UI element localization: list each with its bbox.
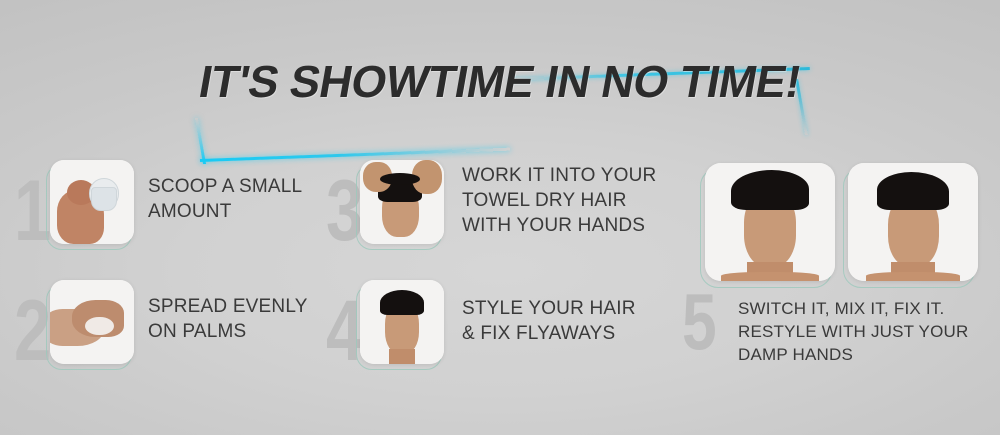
page-title: IT'S SHOWTIME IN NO TIME! xyxy=(0,56,1000,108)
step-5-image-2 xyxy=(848,163,978,281)
man-running-hands-through-hair-photo xyxy=(360,160,444,244)
step-3-text: WORK IT INTO YOUR TOWEL DRY HAIR WITH YO… xyxy=(462,163,677,238)
step-3-image xyxy=(360,160,444,244)
accent-bracket-bottom-left-horizontal xyxy=(200,148,510,162)
man-alternate-style-photo xyxy=(848,163,978,281)
step-1-text: SCOOP A SMALL AMOUNT xyxy=(148,174,338,224)
man-restyled-hair-photo xyxy=(705,163,835,281)
man-styled-hair-photo xyxy=(360,280,444,364)
promo-banner: IT'S SHOWTIME IN NO TIME! 1 SCOOP A SMAL… xyxy=(0,0,1000,435)
title-block: IT'S SHOWTIME IN NO TIME! xyxy=(0,34,1000,144)
step-2-image xyxy=(50,280,134,364)
step-5-image-1 xyxy=(705,163,835,281)
step-2-text: SPREAD EVENLY ON PALMS xyxy=(148,294,348,344)
step-4-image xyxy=(360,280,444,364)
step-4-text: STYLE YOUR HAIR & FIX FLYAWAYS xyxy=(462,296,677,346)
accent-bracket-bottom-left-vertical xyxy=(195,118,206,164)
step-1-image xyxy=(50,160,134,244)
hands-spreading-product-photo xyxy=(50,280,134,364)
hand-holding-jar-photo xyxy=(50,160,134,244)
step-5-text: SWITCH IT, MIX IT, FIX IT. RESTYLE WITH … xyxy=(738,297,988,366)
step-5-number: 5 xyxy=(682,282,717,362)
